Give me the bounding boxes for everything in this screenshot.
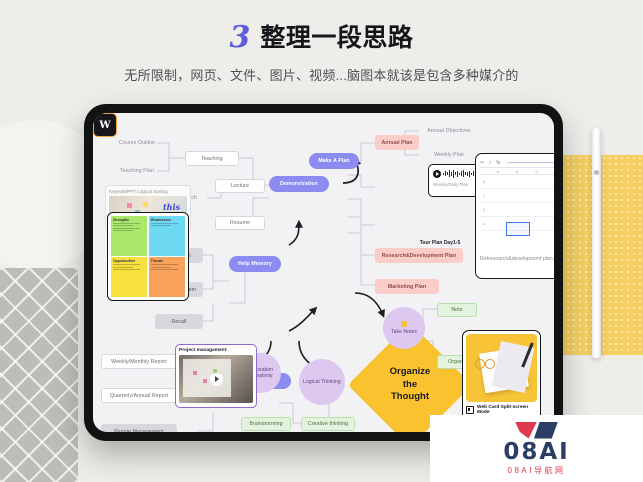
- swot-weaknesses: Weaknesses: [149, 216, 185, 256]
- node-people-management[interactable]: People Management: [101, 424, 177, 432]
- card-video-title: Project managament:: [179, 348, 253, 353]
- selected-cell[interactable]: [506, 222, 530, 236]
- watermark-subtitle: 08AI导航网: [508, 465, 566, 476]
- sticky-note-yellow: [143, 202, 148, 207]
- node-weekly-monthly-report[interactable]: Weekly/Monthly Report: [101, 354, 177, 369]
- center-line-3: Thought: [391, 391, 429, 403]
- card-video-thumbnail: [179, 355, 253, 403]
- card-web-thumbnail: [466, 334, 537, 402]
- row-num-2: 2: [480, 194, 488, 198]
- card-spreadsheet[interactable]: ✂ ✓ fx A B C D 5: [475, 153, 554, 279]
- node-quarterly-annual-report[interactable]: Quarterly/Annual Report: [101, 388, 177, 403]
- node-research-development-plan[interactable]: Research&Development Plan: [375, 248, 463, 263]
- row-num-1: 5: [480, 180, 488, 184]
- page-stage: 3 整理一段思路 无所限制，网页、文件、图片、视频...脑图本就该是包含多种媒介…: [0, 0, 643, 482]
- play-button[interactable]: [210, 373, 223, 386]
- card-swot-matrix[interactable]: Strengths Weaknesses Opportunities Threa…: [107, 212, 189, 301]
- node-course-outline[interactable]: Course Outline: [115, 137, 159, 148]
- sticky-pink-1: [193, 371, 197, 375]
- spreadsheet-toolbar[interactable]: ✂ ✓ fx: [480, 158, 554, 168]
- audio-play-icon[interactable]: [433, 170, 441, 178]
- node-help-memory[interactable]: Help Memory: [229, 256, 281, 272]
- node-recall[interactable]: Recall: [155, 314, 203, 329]
- node-take-notes-label: Take Notes: [391, 329, 417, 335]
- swot-threats: Threats: [149, 257, 185, 297]
- watermark-logo: 08AI 08AI导航网: [430, 415, 643, 482]
- glasses-icon: [475, 359, 495, 368]
- swot-strengths-label: Strengths: [113, 218, 145, 222]
- table-row: 2: [480, 189, 554, 203]
- node-note[interactable]: Note: [437, 303, 477, 317]
- swot-threats-label: Threats: [151, 259, 183, 263]
- swot-opportunities: Opportunities: [111, 257, 147, 297]
- node-marketing-plan[interactable]: Marketing Plan: [375, 279, 439, 294]
- row-num-4: 4: [480, 222, 488, 226]
- card-word-caption: Tour Plan Day1-5: [417, 240, 463, 246]
- node-brainstorming[interactable]: Brainstorming: [241, 417, 291, 431]
- page-header: 3 整理一段思路 无所限制，网页、文件、图片、视频...脑图本就该是包含多种媒介…: [0, 18, 643, 84]
- node-take-notes[interactable]: Take Notes: [383, 307, 425, 349]
- center-line-2: the: [403, 379, 417, 391]
- center-line-1: Organize: [390, 366, 431, 378]
- node-demonstration[interactable]: Demonstration: [269, 176, 329, 192]
- node-weekly-plan[interactable]: Weekly Plan: [419, 149, 479, 160]
- swot-opportunities-label: Opportunities: [113, 259, 145, 263]
- watermark-mark: [515, 422, 558, 439]
- stylus-pencil: [592, 128, 601, 358]
- node-resume[interactable]: Resume: [215, 216, 265, 230]
- sticky-note-pink: [127, 203, 132, 208]
- table-row: 5: [480, 175, 554, 189]
- watermark-red-shape: [515, 422, 537, 439]
- background-chevron-panel: [0, 268, 78, 482]
- swot-grid: Strengths Weaknesses Opportunities Threa…: [111, 216, 185, 297]
- col-a: A: [488, 170, 508, 174]
- card-ppt-title: Keynote/PPT Logical Sorting: [109, 189, 187, 194]
- formula-bar[interactable]: [507, 162, 554, 163]
- tablet-device: Course Outline Teaching Plan Teaching Ou…: [84, 104, 563, 441]
- row-num-3: 3: [480, 208, 488, 212]
- watermark-blue-shape: [534, 422, 558, 439]
- card-video[interactable]: Project managament:: [175, 344, 257, 408]
- col-b: B: [508, 170, 528, 174]
- swot-strengths: Strengths: [111, 216, 147, 256]
- table-row: 3: [480, 203, 554, 217]
- card-web-title: Web Card Split-screen Mode: [477, 405, 537, 415]
- card-ppt-ink-text: this: [163, 202, 180, 212]
- col-c: C: [527, 170, 547, 174]
- node-make-a-plan[interactable]: Make A Plan: [309, 153, 359, 169]
- split-screen-icon: [466, 406, 474, 414]
- node-logical-thinking[interactable]: Logical Thinking: [299, 359, 345, 405]
- check-icon[interactable]: ✓: [488, 160, 492, 166]
- take-notes-icon: [401, 321, 407, 327]
- swot-weaknesses-label: Weaknesses: [151, 218, 183, 222]
- spreadsheet-grid: A B C D 5 2: [480, 170, 554, 254]
- tablet-screen: Course Outline Teaching Plan Teaching Ou…: [93, 113, 554, 432]
- page-title: 整理一段思路: [260, 18, 413, 54]
- cut-icon[interactable]: ✂: [480, 160, 484, 166]
- sticky-pink-2: [203, 379, 207, 383]
- header-title-row: 3 整理一段思路: [0, 18, 643, 54]
- watermark-brand: 08AI: [503, 441, 569, 464]
- card-spreadsheet-caption: Retresearch&development plan.xlsx: [480, 256, 554, 263]
- node-lecture[interactable]: Lecture: [215, 179, 265, 193]
- node-teaching[interactable]: Teaching: [185, 151, 239, 166]
- page-subtitle: 无所限制，网页、文件、图片、视频...脑图本就该是包含多种媒介的: [0, 65, 643, 84]
- audio-waveform: [443, 169, 478, 178]
- step-number: 3: [230, 23, 251, 53]
- node-teaching-plan[interactable]: Teaching Plan: [115, 165, 159, 176]
- col-d: D: [547, 170, 555, 174]
- node-creative-thinking[interactable]: Creative thinking: [301, 417, 355, 431]
- card-web-title-row: Web Card Split-screen Mode: [466, 405, 537, 415]
- whiteboard: [183, 359, 231, 397]
- node-annual-objectives[interactable]: Annual Objectives: [419, 125, 479, 136]
- node-annual-plan[interactable]: Annual Plan: [375, 135, 419, 150]
- formula-icon[interactable]: fx: [496, 160, 500, 166]
